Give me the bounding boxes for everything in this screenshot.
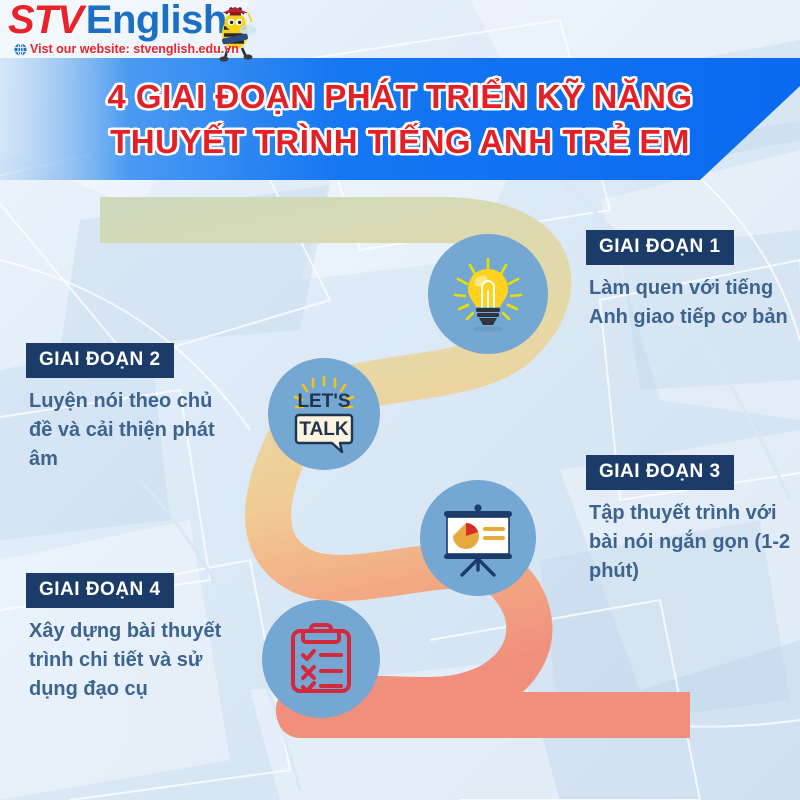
website-line[interactable]: Vist our website: stvenglish.edu.vn [14,42,239,56]
stage-2-block: GIAI ĐOẠN 2 Luyện nói theo chủ đề và cải… [26,343,238,474]
title-banner-shape [0,58,800,180]
stage-2-text: Luyện nói theo chủ đề và cải thiện phát … [26,387,238,474]
stage-1-icon-circle [428,234,548,354]
stage-4-block: GIAI ĐOẠN 4 Xây dựng bài thuyết trình ch… [26,573,238,704]
lets-talk-speech-bubble-icon: LET'S TALK [281,371,367,457]
logo-stv-text: STV [8,0,83,40]
globe-icon [14,43,27,56]
stage-3-icon-circle [420,480,536,596]
presentation-board-icon [436,496,520,580]
logo-wordmark[interactable]: STV English [8,0,227,40]
lightbulb-icon [445,251,531,337]
brand-logo-bar[interactable]: STV English [0,0,800,62]
talk-text: TALK [299,419,349,440]
stage-2-icon-circle: LET'S TALK [268,358,380,470]
infographic-poster: 4 GIAI ĐOẠN PHÁT TRIỂN KỸ NĂNG THUYẾT TR… [0,0,800,800]
stage-4-text: Xây dựng bài thuyết trình chi tiết và sử… [26,617,238,704]
stage-4-icon-circle [262,600,380,718]
stage-2-badge: GIAI ĐOẠN 2 [26,343,174,378]
stage-1-badge: GIAI ĐOẠN 1 [586,230,734,265]
clipboard-checklist-icon [281,619,361,699]
stage-4-badge: GIAI ĐOẠN 4 [26,573,174,608]
website-text: Vist our website: stvenglish.edu.vn [30,42,239,56]
stage-1-text: Làm quen với tiếng Anh giao tiếp cơ bản [586,274,798,332]
stage-3-text: Tập thuyết trình với bài nói ngắn gọn (1… [586,499,798,586]
stage-3-block: GIAI ĐOẠN 3 Tập thuyết trình với bài nói… [586,455,798,586]
lets-text: LET'S [297,391,350,412]
stage-3-badge: GIAI ĐOẠN 3 [586,455,734,490]
stage-1-block: GIAI ĐOẠN 1 Làm quen với tiếng Anh giao … [586,230,798,332]
